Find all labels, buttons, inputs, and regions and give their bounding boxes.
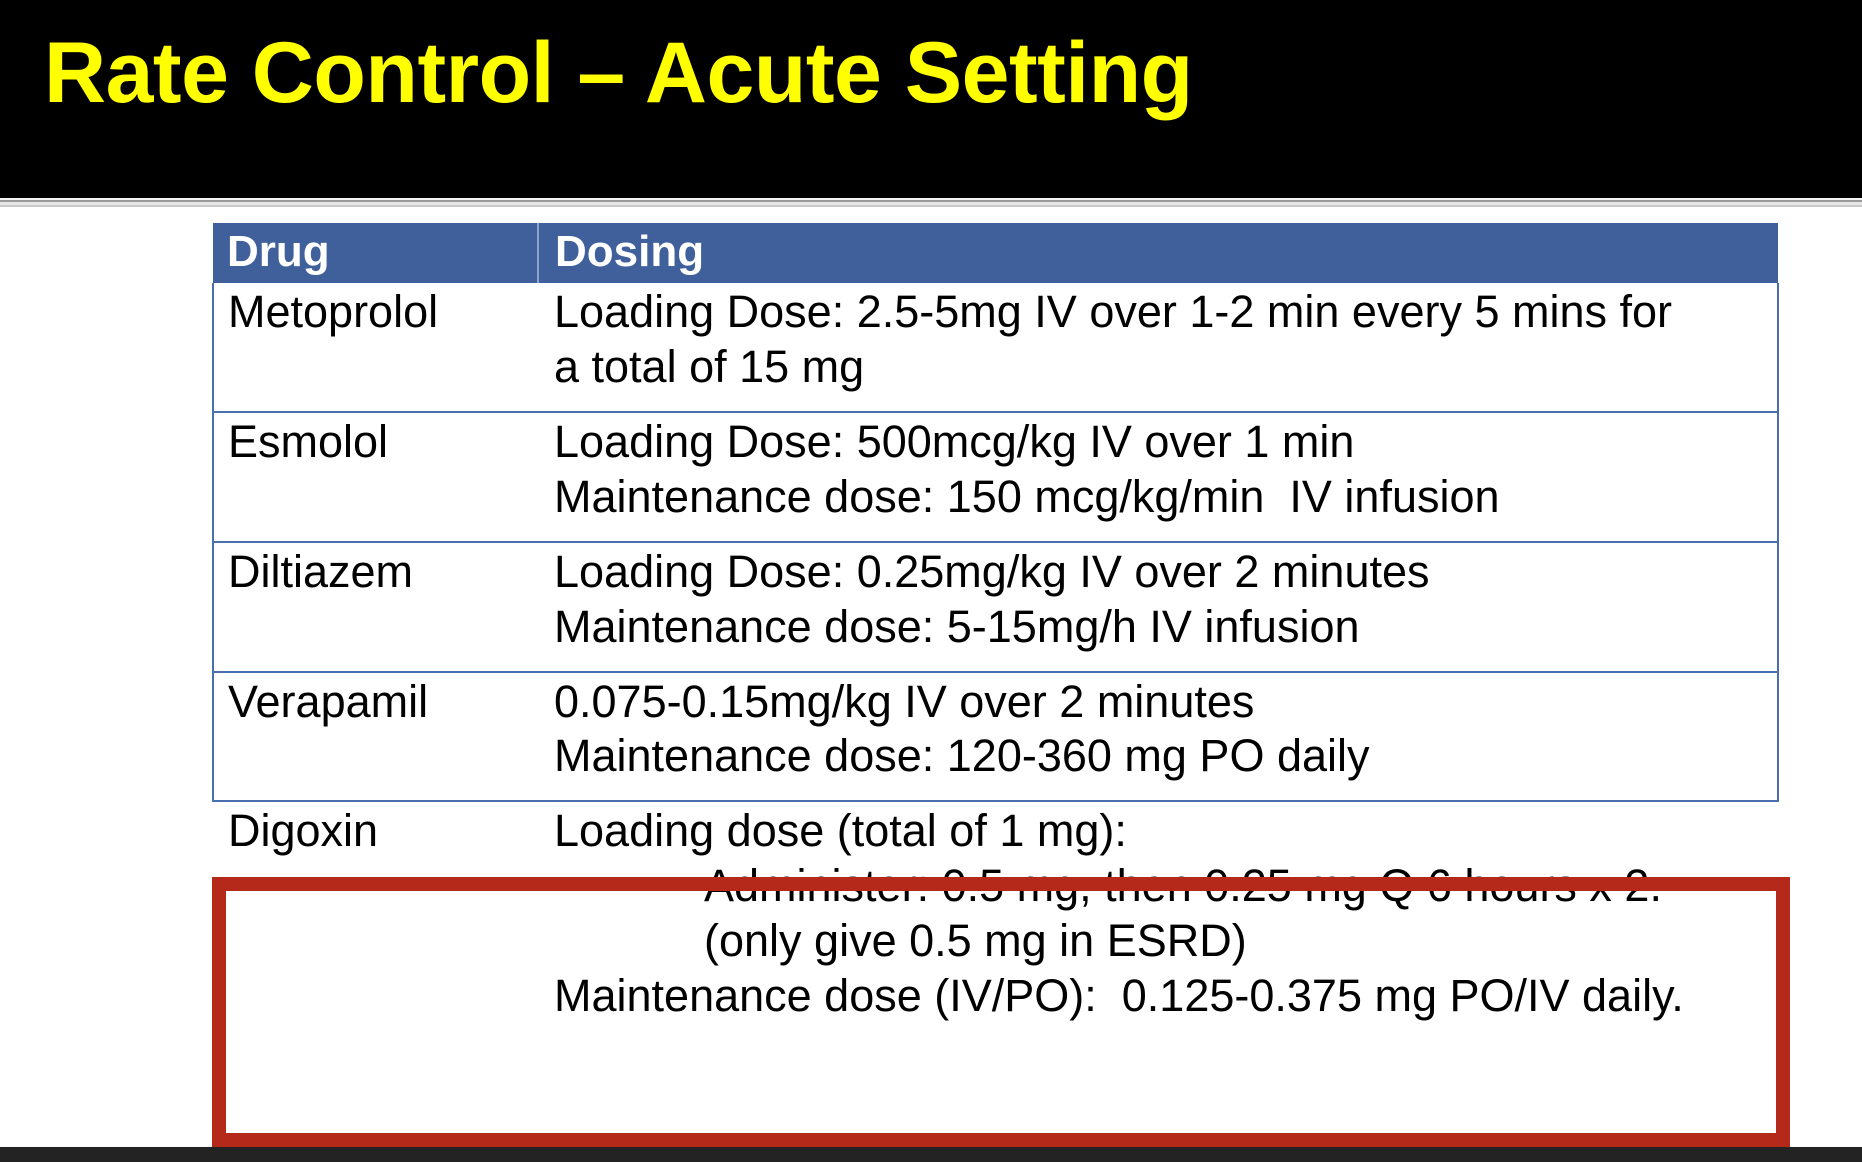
dosing-line: Maintenance dose: 5-15mg/h IV infusion	[554, 600, 1773, 655]
table-row: Verapamil 0.075-0.15mg/kg IV over 2 minu…	[213, 672, 1778, 802]
cell-dosing: Loading Dose: 500mcg/kg IV over 1 min Ma…	[538, 412, 1778, 542]
cell-dosing: Loading dose (total of 1 mg): Administer…	[538, 801, 1778, 1041]
table-header-row: Drug Dosing	[213, 223, 1778, 283]
column-header-drug: Drug	[213, 223, 538, 283]
cell-drug-name: Esmolol	[213, 412, 538, 542]
dosing-line: Loading Dose: 2.5-5mg IV over 1-2 min ev…	[554, 285, 1773, 340]
cell-drug-name: Diltiazem	[213, 542, 538, 672]
dosing-line: a total of 15 mg	[554, 340, 1773, 395]
table-row: Esmolol Loading Dose: 500mcg/kg IV over …	[213, 412, 1778, 542]
cell-drug-name: Metoprolol	[213, 283, 538, 412]
dosing-line: Administer: 0.5 mg, then 0.25 mg Q 6 hou…	[554, 859, 1773, 914]
table-row-highlighted: Digoxin Loading dose (total of 1 mg): Ad…	[213, 801, 1778, 1041]
table-body: Metoprolol Loading Dose: 2.5-5mg IV over…	[213, 283, 1778, 1041]
dosing-line: Loading Dose: 0.25mg/kg IV over 2 minute…	[554, 545, 1773, 600]
drug-dosing-table: Drug Dosing Metoprolol Loading Dose: 2.5…	[212, 223, 1779, 1042]
cell-dosing: Loading Dose: 0.25mg/kg IV over 2 minute…	[538, 542, 1778, 672]
column-header-dosing: Dosing	[538, 223, 1778, 283]
slide-body: Drug Dosing Metoprolol Loading Dose: 2.5…	[0, 207, 1862, 1147]
dosing-line: Maintenance dose (IV/PO): 0.125-0.375 mg…	[554, 969, 1773, 1024]
dosing-line: Loading Dose: 500mcg/kg IV over 1 min	[554, 415, 1773, 470]
dosing-line: Maintenance dose: 120-360 mg PO daily	[554, 729, 1773, 784]
dosing-line: 0.075-0.15mg/kg IV over 2 minutes	[554, 675, 1773, 730]
title-divider	[0, 198, 1862, 207]
slide-bottom-strip	[0, 1147, 1862, 1162]
cell-drug-name: Digoxin	[213, 801, 538, 1041]
cell-dosing: 0.075-0.15mg/kg IV over 2 minutes Mainte…	[538, 672, 1778, 802]
dosing-line: Loading dose (total of 1 mg):	[554, 804, 1773, 859]
dosing-line: Maintenance dose: 150 mcg/kg/min IV infu…	[554, 470, 1773, 525]
cell-drug-name: Verapamil	[213, 672, 538, 802]
table-row: Metoprolol Loading Dose: 2.5-5mg IV over…	[213, 283, 1778, 412]
table-row: Diltiazem Loading Dose: 0.25mg/kg IV ove…	[213, 542, 1778, 672]
cell-dosing: Loading Dose: 2.5-5mg IV over 1-2 min ev…	[538, 283, 1778, 412]
slide-title-bar: Rate Control – Acute Setting	[0, 0, 1862, 198]
page-title: Rate Control – Acute Setting	[44, 26, 1193, 121]
dosing-line: (only give 0.5 mg in ESRD)	[554, 914, 1773, 969]
